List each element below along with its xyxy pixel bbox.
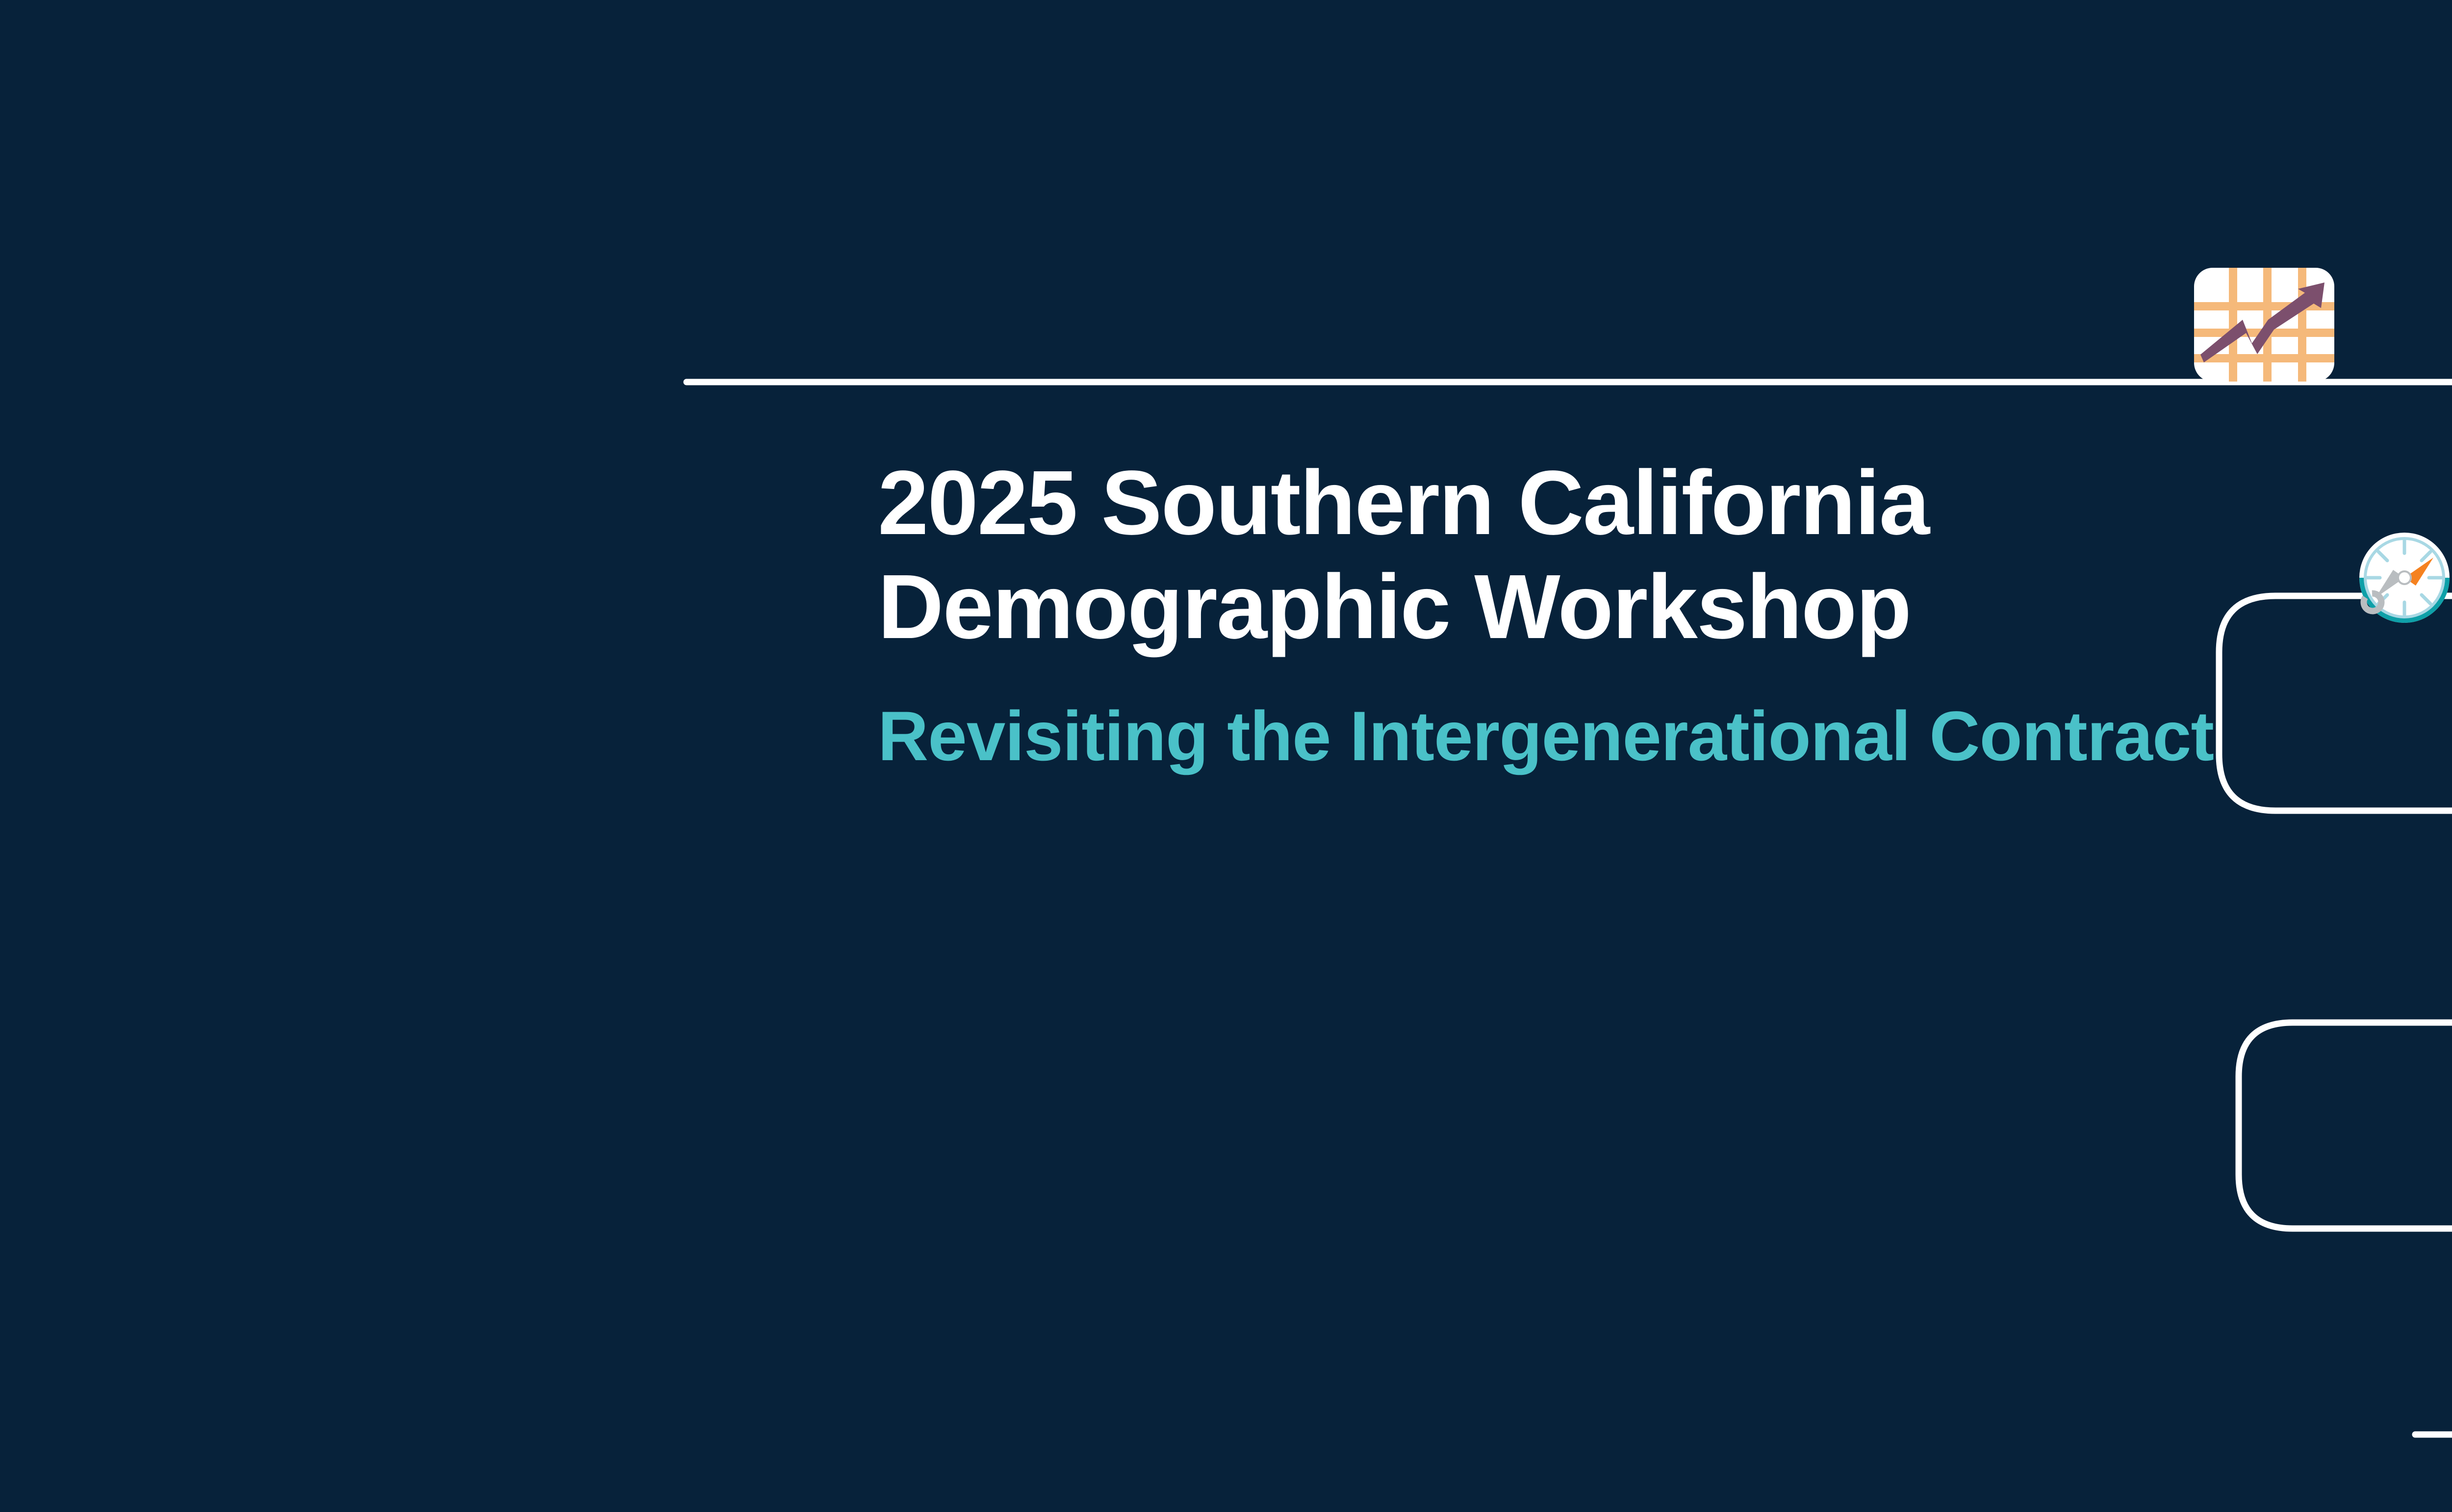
- line-chart-tile: [2194, 268, 2334, 382]
- page-title-line-1: 2025 Southern California: [878, 451, 2349, 555]
- hero-text-block: 2025 Southern California Demographic Wor…: [878, 451, 2349, 779]
- page-subtitle: Revisiting the Intergenerational Contrac…: [878, 659, 2349, 779]
- page-title-line-2: Demographic Workshop: [878, 555, 2349, 659]
- compass-rose: [2359, 533, 2450, 623]
- banner-canvas: 2025 Southern California Demographic Wor…: [0, 0, 2452, 1512]
